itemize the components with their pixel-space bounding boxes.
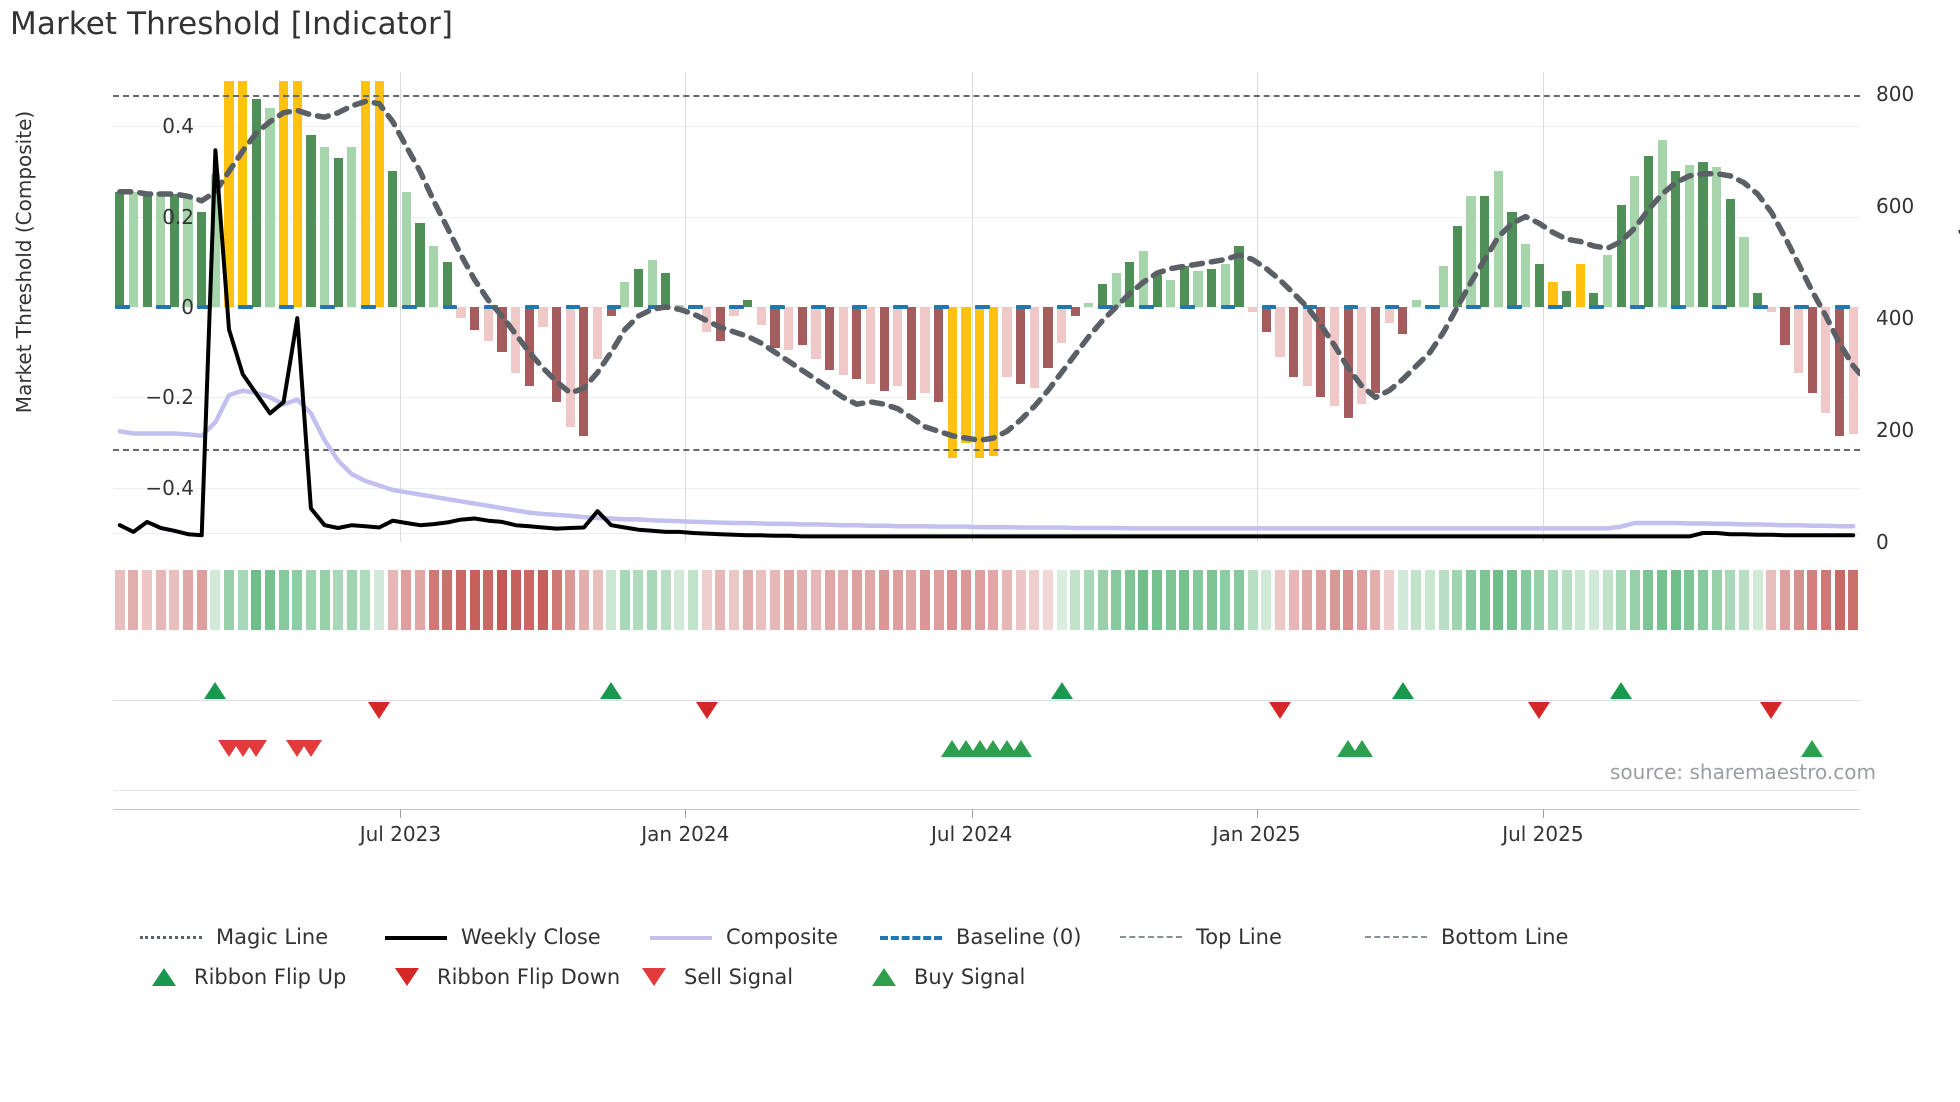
ribbon-flip-down-marker — [1269, 702, 1291, 719]
ribbon-cell — [1684, 570, 1694, 630]
ribbon-cell — [988, 570, 998, 630]
ribbon-cell — [1780, 570, 1790, 630]
ribbon-cell — [770, 570, 780, 630]
ribbon-cell — [360, 570, 370, 630]
ribbon-cell — [1220, 570, 1230, 630]
ribbon-cell — [292, 570, 302, 630]
ribbon-cell — [1562, 570, 1572, 630]
ribbon-cell — [565, 570, 575, 630]
ribbon-cell — [1698, 570, 1708, 630]
ribbon-cell — [1343, 570, 1353, 630]
ribbon-cell — [579, 570, 589, 630]
legend-item-line-3[interactable]: Baseline (0) — [880, 925, 1081, 949]
ribbon-cell — [784, 570, 794, 630]
ribbon-cell — [1098, 570, 1108, 630]
ribbon-cell — [1452, 570, 1462, 630]
ribbon-cell — [1193, 570, 1203, 630]
ribbon-cell — [920, 570, 930, 630]
ribbon-cell — [1152, 570, 1162, 630]
y-axis-right-tick: 800 — [1876, 82, 1960, 106]
ribbon-cell — [1794, 570, 1804, 630]
buy-signal-marker — [1801, 740, 1823, 757]
ribbon-cell — [825, 570, 835, 630]
ribbon-cell — [1070, 570, 1080, 630]
y-axis-right-tick: 0 — [1876, 530, 1960, 554]
ribbon-flip-up-marker — [204, 682, 226, 699]
ribbon-cell — [1739, 570, 1749, 630]
ribbon-cell — [1493, 570, 1503, 630]
y-axis-left-tick: 0.4 — [74, 114, 194, 138]
legend-line-swatch — [385, 930, 447, 944]
ribbon-cell — [1548, 570, 1558, 630]
ribbon-cell — [743, 570, 753, 630]
ribbon-cell — [1261, 570, 1271, 630]
ribbon-cell — [1589, 570, 1599, 630]
ribbon-cell — [606, 570, 616, 630]
legend-row-lines: Magic LineWeekly CloseCompositeBaseline … — [0, 925, 1960, 965]
y-axis-left-tick: −0.4 — [74, 476, 194, 500]
ribbon-cell — [374, 570, 384, 630]
ribbon-cell — [1521, 570, 1531, 630]
ribbon-cell — [1357, 570, 1367, 630]
legend-item-marker-0[interactable]: Ribbon Flip Up — [150, 965, 346, 989]
ribbon-cell — [593, 570, 603, 630]
ribbon-cell — [333, 570, 343, 630]
x-axis-tick: Jul 2025 — [1502, 822, 1583, 846]
ribbon-cell — [265, 570, 275, 630]
ribbon-cell — [251, 570, 261, 630]
ribbon-cell — [1248, 570, 1258, 630]
legend-line-swatch — [140, 930, 202, 944]
legend-row-markers: Ribbon Flip UpRibbon Flip DownSell Signa… — [0, 965, 1960, 1005]
ribbon-cell — [1398, 570, 1408, 630]
legend-label: Top Line — [1196, 925, 1282, 949]
x-axis-tick-mark — [685, 809, 686, 818]
ribbon-cell — [975, 570, 985, 630]
ribbon-cell — [429, 570, 439, 630]
y-axis-right-tick: 600 — [1876, 194, 1960, 218]
ribbon-cell — [865, 570, 875, 630]
legend-item-line-4[interactable]: Top Line — [1120, 925, 1282, 949]
ribbon-cell — [715, 570, 725, 630]
main-plot-area — [113, 72, 1860, 542]
ribbon-heatmap — [113, 570, 1860, 630]
ribbon-cell — [1316, 570, 1326, 630]
y-axis-left-tick: 0.2 — [74, 205, 194, 229]
ribbon-cell — [1179, 570, 1189, 630]
buy-signal-marker — [1010, 740, 1032, 757]
legend-line-swatch — [1365, 930, 1427, 944]
ribbon-cell — [811, 570, 821, 630]
x-axis-tick: Jul 2024 — [931, 822, 1012, 846]
source-attribution: source: sharemaestro.com — [1610, 760, 1876, 784]
buy-signal-marker — [1351, 740, 1373, 757]
legend-label: Ribbon Flip Down — [437, 965, 620, 989]
ribbon-cell — [893, 570, 903, 630]
ribbon-flip-up-marker — [600, 682, 622, 699]
ribbon-cell — [210, 570, 220, 630]
ribbon-flip-axis — [113, 700, 1860, 701]
ribbon-cell — [1712, 570, 1722, 630]
x-axis-tick: Jul 2023 — [360, 822, 441, 846]
legend-item-marker-1[interactable]: Ribbon Flip Down — [393, 965, 620, 989]
page-title: Market Threshold [Indicator] — [10, 6, 453, 42]
ribbon-cell — [1753, 570, 1763, 630]
ribbon-cell — [1002, 570, 1012, 630]
ribbon-cell — [1766, 570, 1776, 630]
x-axis-tick-mark — [972, 809, 973, 818]
ribbon-cell — [1370, 570, 1380, 630]
ribbon-cell — [1043, 570, 1053, 630]
ribbon-cell — [1807, 570, 1817, 630]
ribbon-cell — [224, 570, 234, 630]
signal-axis — [113, 790, 1860, 791]
legend-label: Sell Signal — [684, 965, 793, 989]
x-axis-tick: Jan 2025 — [1213, 822, 1301, 846]
ribbon-cell — [1166, 570, 1176, 630]
ribbon-cell — [756, 570, 766, 630]
ribbon-cell — [169, 570, 179, 630]
ribbon-cell — [1234, 570, 1244, 630]
x-axis-tick: Jan 2024 — [641, 822, 729, 846]
ribbon-cell — [320, 570, 330, 630]
ribbon-cell — [538, 570, 548, 630]
ribbon-cell — [1835, 570, 1845, 630]
ribbon-cell — [497, 570, 507, 630]
x-axis-line — [113, 809, 1860, 810]
ribbon-cell — [1630, 570, 1640, 630]
ribbon-cell — [1138, 570, 1148, 630]
sell-signal-marker — [300, 740, 322, 757]
ribbon-cell — [279, 570, 289, 630]
ribbon-cell — [1029, 570, 1039, 630]
chart-root: Market Threshold [Indicator] Market Thre… — [0, 0, 1960, 1102]
ribbon-cell — [524, 570, 534, 630]
ribbon-cell — [961, 570, 971, 630]
ribbon-flip-down-marker — [696, 702, 718, 719]
ribbon-cell — [401, 570, 411, 630]
ribbon-cell — [1275, 570, 1285, 630]
ribbon-cell — [1016, 570, 1026, 630]
ribbon-flip-up-marker — [1610, 682, 1632, 699]
buy-signal-icon — [870, 966, 900, 988]
sell-signal-icon — [640, 966, 670, 988]
ribbon-cell — [1439, 570, 1449, 630]
ribbon-cell — [388, 570, 398, 630]
ribbon-cell — [1725, 570, 1735, 630]
ribbon-cell — [1302, 570, 1312, 630]
ribbon-cell — [442, 570, 452, 630]
ribbon-cell — [1480, 570, 1490, 630]
ribbon-cell — [470, 570, 480, 630]
ribbon-cell — [633, 570, 643, 630]
legend-item-marker-3[interactable]: Buy Signal — [870, 965, 1025, 989]
legend-label: Weekly Close — [461, 925, 601, 949]
ribbon-cell — [1821, 570, 1831, 630]
sell-signal-marker — [245, 740, 267, 757]
ribbon-cell — [1384, 570, 1394, 630]
legend-item-line-5[interactable]: Bottom Line — [1365, 925, 1568, 949]
ribbon-cell — [1207, 570, 1217, 630]
composite-line — [120, 391, 1853, 529]
ribbon-cell — [1111, 570, 1121, 630]
legend-label: Composite — [726, 925, 838, 949]
ribbon-cell — [1671, 570, 1681, 630]
ribbon-flip-down-marker — [1760, 702, 1782, 719]
ribbon-cell — [1643, 570, 1653, 630]
ribbon-cell — [183, 570, 193, 630]
ribbon-cell — [674, 570, 684, 630]
ribbon-cell — [702, 570, 712, 630]
ribbon-cell — [661, 570, 671, 630]
legend-label: Buy Signal — [914, 965, 1025, 989]
ribbon-cell — [306, 570, 316, 630]
ribbon-cell — [483, 570, 493, 630]
ribbon-cell — [1507, 570, 1517, 630]
legend-label: Ribbon Flip Up — [194, 965, 346, 989]
ribbon-flip-up-marker — [1392, 682, 1414, 699]
ribbon-cell — [1575, 570, 1585, 630]
legend-label: Baseline (0) — [956, 925, 1081, 949]
legend-item-marker-2[interactable]: Sell Signal — [640, 965, 793, 989]
ribbon-cell — [934, 570, 944, 630]
ribbon-cell — [456, 570, 466, 630]
legend-item-line-0[interactable]: Magic Line — [140, 925, 328, 949]
ribbon-cell — [128, 570, 138, 630]
ribbon-flip-up-marker — [1051, 682, 1073, 699]
ribbon-cell — [1057, 570, 1067, 630]
ribbon-cell — [1848, 570, 1858, 630]
legend-line-swatch — [880, 930, 942, 944]
plot-clip — [113, 72, 1860, 542]
ribbon-cell — [142, 570, 152, 630]
ribbon-cell — [156, 570, 166, 630]
y-axis-right-tick: 400 — [1876, 306, 1960, 330]
y-axis-left-tick: 0 — [74, 295, 194, 319]
y-axis-right-tick: 200 — [1876, 418, 1960, 442]
x-axis-tick-mark — [1543, 809, 1544, 818]
ribbon-cell — [115, 570, 125, 630]
ribbon-cell — [1084, 570, 1094, 630]
ribbon-cell — [511, 570, 521, 630]
ribbon-cell — [947, 570, 957, 630]
legend-line-swatch — [1120, 930, 1182, 944]
ribbon-cell — [1125, 570, 1135, 630]
ribbon-cell — [647, 570, 657, 630]
legend-label: Bottom Line — [1441, 925, 1568, 949]
ribbon-cell — [879, 570, 889, 630]
ribbon-cell — [1466, 570, 1476, 630]
ribbon-cell — [238, 570, 248, 630]
ribbon-cell — [197, 570, 207, 630]
ribbon-flip-up-icon — [150, 966, 180, 988]
legend-line-swatch — [650, 930, 712, 944]
x-axis-tick-mark — [1257, 809, 1258, 818]
ribbon-cell — [1657, 570, 1667, 630]
ribbon-cell — [1603, 570, 1613, 630]
ribbon-cell — [1616, 570, 1626, 630]
ribbon-cell — [347, 570, 357, 630]
legend-item-line-2[interactable]: Composite — [650, 925, 838, 949]
magic-line — [120, 101, 1860, 440]
legend-item-line-1[interactable]: Weekly Close — [385, 925, 601, 949]
ribbon-cell — [906, 570, 916, 630]
ribbon-cell — [688, 570, 698, 630]
ribbon-cell — [838, 570, 848, 630]
ribbon-flip-down-icon — [393, 966, 423, 988]
y-axis-left-tick: −0.2 — [74, 385, 194, 409]
weekly-close-line — [120, 150, 1853, 536]
ribbon-cell — [620, 570, 630, 630]
ribbon-flip-down-marker — [368, 702, 390, 719]
legend-label: Magic Line — [216, 925, 328, 949]
ribbon-cell — [729, 570, 739, 630]
ribbon-cell — [1411, 570, 1421, 630]
ribbon-cell — [552, 570, 562, 630]
chart-legend: Magic LineWeekly CloseCompositeBaseline … — [0, 925, 1960, 1005]
ribbon-cell — [415, 570, 425, 630]
ribbon-flip-down-marker — [1528, 702, 1550, 719]
ribbon-cell — [1425, 570, 1435, 630]
ribbon-cell — [797, 570, 807, 630]
ribbon-cell — [852, 570, 862, 630]
line-overlay — [113, 72, 1860, 542]
ribbon-cell — [1534, 570, 1544, 630]
ribbon-cell — [1289, 570, 1299, 630]
y-axis-left-label: Market Threshold (Composite) — [12, 52, 36, 472]
x-axis-tick-mark — [400, 809, 401, 818]
ribbon-cell — [1330, 570, 1340, 630]
